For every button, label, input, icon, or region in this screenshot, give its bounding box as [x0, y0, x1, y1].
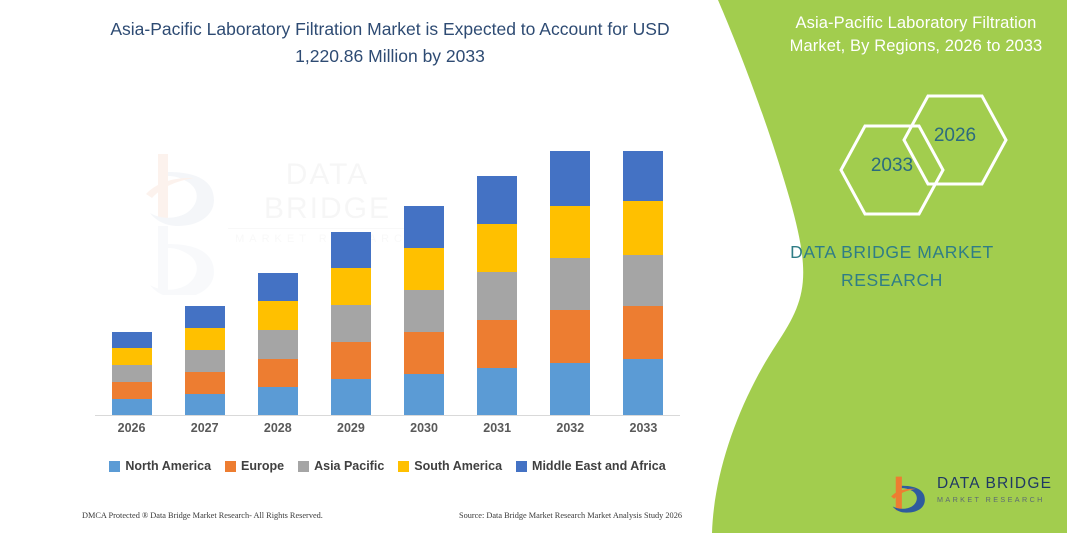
legend-swatch-icon [225, 461, 236, 472]
bar-2033 [623, 151, 663, 416]
legend-swatch-icon [298, 461, 309, 472]
infographic-root: Asia-Pacific Laboratory Filtration Marke… [0, 0, 1067, 533]
bar-segment [331, 232, 371, 268]
bar-segment [477, 272, 517, 320]
bar-segment [258, 301, 298, 330]
legend-item-asia-pacific[interactable]: Asia Pacific [298, 459, 384, 473]
bar-segment [623, 201, 663, 255]
right-panel-title: Asia-Pacific Laboratory Filtration Marke… [772, 12, 1060, 58]
legend-item-middle-east-and-africa[interactable]: Middle East and Africa [516, 459, 666, 473]
footer-source: Source: Data Bridge Market Research Mark… [459, 511, 682, 520]
bar-segment [331, 379, 371, 416]
x-axis-label-2027: 2027 [170, 421, 240, 435]
bar-segment [623, 151, 663, 201]
legend-swatch-icon [109, 461, 120, 472]
right-panel-brand: DATA BRIDGE MARKET RESEARCH [742, 238, 1042, 294]
bar-2028 [258, 273, 298, 416]
bar-segment [185, 394, 225, 416]
bar-segment [331, 305, 371, 342]
x-axis-label-2028: 2028 [243, 421, 313, 435]
x-axis-label-2026: 2026 [97, 421, 167, 435]
hexagon-2033: 2033 [837, 122, 947, 218]
x-axis-label-2032: 2032 [535, 421, 605, 435]
footer: DMCA Protected ® Data Bridge Market Rese… [82, 505, 682, 525]
x-axis-label-2031: 2031 [462, 421, 532, 435]
legend-label: Europe [241, 459, 284, 473]
chart-legend: North AmericaEuropeAsia PacificSouth Ame… [95, 455, 680, 477]
hexagon-group: 2026 2033 [822, 92, 1022, 212]
bar-segment [477, 320, 517, 368]
legend-item-south-america[interactable]: South America [398, 459, 502, 473]
bar-segment [404, 374, 444, 416]
bar-segment [185, 350, 225, 372]
x-axis-label-2030: 2030 [389, 421, 459, 435]
x-axis-line [95, 415, 680, 416]
legend-label: South America [414, 459, 502, 473]
bar-segment [477, 176, 517, 224]
bar-segment [404, 206, 444, 248]
x-axis-label-2029: 2029 [316, 421, 386, 435]
databridge-logo-mark-icon [885, 472, 931, 518]
bar-2029 [331, 232, 371, 416]
logo-line-1: DATA BRIDGE [937, 475, 1057, 493]
bar-segment [258, 273, 298, 301]
bar-segment [112, 332, 152, 348]
legend-label: Asia Pacific [314, 459, 384, 473]
bar-segment [404, 248, 444, 290]
databridge-logo: DATA BRIDGE MARKET RESEARCH [885, 470, 1055, 520]
x-axis-label-2033: 2033 [608, 421, 678, 435]
legend-swatch-icon [398, 461, 409, 472]
bar-segment [258, 387, 298, 416]
bar-2026 [112, 332, 152, 416]
bar-segment [258, 330, 298, 359]
bar-segment [550, 310, 590, 363]
bar-2030 [404, 206, 444, 416]
bar-segment [477, 368, 517, 416]
bar-segment [623, 359, 663, 416]
bar-2032 [550, 151, 590, 416]
green-panel-content: Asia-Pacific Laboratory Filtration Marke… [712, 0, 1067, 533]
bar-segment [112, 399, 152, 416]
bar-segment [550, 258, 590, 310]
bar-segment [404, 332, 444, 374]
bar-segment [477, 224, 517, 272]
legend-label: North America [125, 459, 211, 473]
footer-copyright: DMCA Protected ® Data Bridge Market Rese… [82, 511, 323, 520]
bar-2031 [477, 176, 517, 416]
logo-line-2: MARKET RESEARCH [937, 494, 1057, 505]
bar-segment [185, 372, 225, 394]
bar-2027 [185, 306, 225, 416]
bar-segment [185, 328, 225, 350]
bar-segment [331, 342, 371, 379]
bar-segment [112, 348, 152, 365]
legend-item-north-america[interactable]: North America [109, 459, 211, 473]
bar-segment [404, 290, 444, 332]
bar-segment [112, 382, 152, 399]
hexagon-2033-label: 2033 [837, 155, 947, 177]
stacked-bar-chart [95, 130, 680, 416]
legend-swatch-icon [516, 461, 527, 472]
bar-segment [185, 306, 225, 328]
bar-segment [331, 268, 371, 305]
bar-segment [112, 365, 152, 382]
databridge-logo-text: DATA BRIDGE MARKET RESEARCH [937, 475, 1057, 505]
page-title: Asia-Pacific Laboratory Filtration Marke… [80, 16, 700, 70]
bar-segment [550, 151, 590, 206]
legend-item-europe[interactable]: Europe [225, 459, 284, 473]
bar-segment [623, 306, 663, 359]
bar-segment [550, 206, 590, 258]
legend-label: Middle East and Africa [532, 459, 666, 473]
bar-segment [258, 359, 298, 387]
x-axis-labels: 20262027202820292030203120322033 [95, 421, 680, 445]
bar-segment [623, 255, 663, 306]
bar-segment [550, 363, 590, 416]
